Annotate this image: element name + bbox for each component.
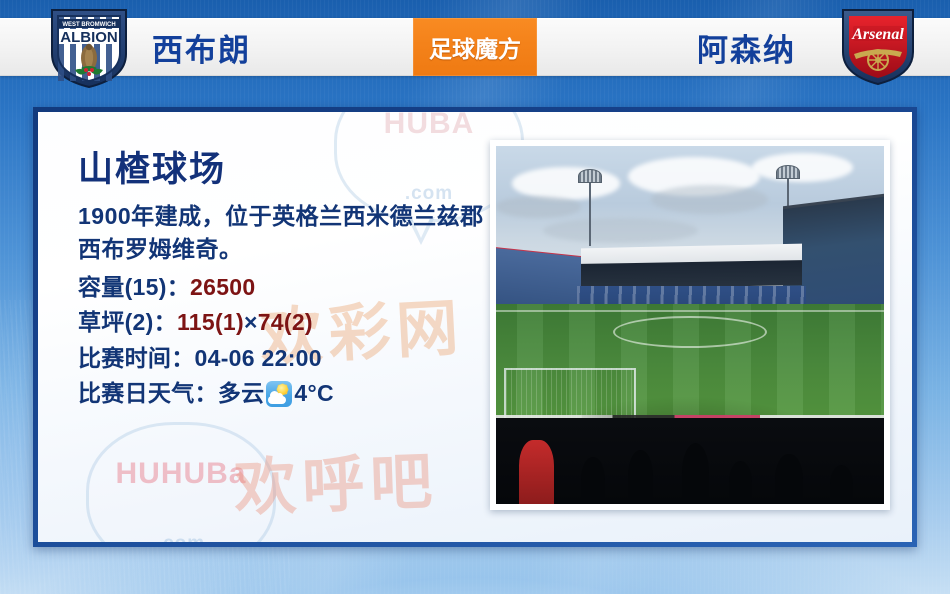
stat-kickoff-value: 04-06 22:00 xyxy=(195,341,322,377)
stat-pitch-width: 74(2) xyxy=(258,305,313,341)
stadium-info-panel: HUBA .com HUHUBa .com 欢彩网 欢呼吧 山楂球场 1900年… xyxy=(33,107,917,547)
stat-capacity: 容量(15) ： 26500 xyxy=(78,270,498,306)
stat-kickoff: 比赛时间 ： 04-06 22:00 xyxy=(78,341,498,377)
stadium-photo: WBAFC xyxy=(496,146,884,504)
watermark-bubble-bottom: HUHUBa .com xyxy=(86,422,276,542)
site-logo[interactable]: 足球魔方 xyxy=(413,18,537,76)
stat-capacity-value: 26500 xyxy=(190,270,255,306)
stat-weather: 比赛日天气 ： 多云 4°C xyxy=(78,376,498,412)
stat-pitch-sep: ： xyxy=(154,305,177,341)
watermark-bubble-bottom-text: HUHUBa xyxy=(89,457,273,491)
stat-pitch-length: 115(1) xyxy=(177,305,244,341)
site-logo-text: 足球魔方 xyxy=(429,30,521,64)
watermark-bubble-top-text: HUBA xyxy=(337,112,521,141)
partly-cloudy-icon xyxy=(266,381,292,407)
svg-text:Arsenal: Arsenal xyxy=(851,26,904,43)
stat-pitch-times: × xyxy=(244,305,258,341)
watermark-bubble-bottom-dotcom: .com xyxy=(89,533,273,542)
stadium-photo-frame: WBAFC xyxy=(490,140,890,510)
stadium-info-column: 山楂球场 1900年建成，位于英格兰西米德兰兹郡西布罗姆维奇。 容量(15) ：… xyxy=(78,150,498,412)
stat-capacity-sep: ： xyxy=(167,270,190,306)
stat-pitch: 草坪(2) ： 115(1) × 74(2) xyxy=(78,305,498,341)
stadium-title: 山楂球场 xyxy=(78,150,498,190)
stat-pitch-label: 草坪(2) xyxy=(78,305,154,341)
stat-weather-temperature: 4°C xyxy=(294,376,334,412)
stadium-description: 1900年建成，位于英格兰西米德兰兹郡西布罗姆维奇。 xyxy=(78,200,490,265)
stat-weather-sep: ： xyxy=(195,376,218,412)
stat-capacity-label: 容量(15) xyxy=(78,270,167,306)
stat-kickoff-label: 比赛时间 xyxy=(78,341,171,377)
home-team-crest: WEST BROMWICH ALBION xyxy=(48,6,130,90)
away-team-crest: Arsenal xyxy=(840,6,916,86)
stat-weather-label: 比赛日天气 xyxy=(78,376,195,412)
watermark-cheer-bottom: 欢呼吧 xyxy=(232,430,439,527)
svg-text:ALBION: ALBION xyxy=(60,29,118,46)
floodlight-pylon-left xyxy=(589,182,591,246)
home-team-name: 西布朗 xyxy=(152,18,251,76)
stat-kickoff-sep: ： xyxy=(171,341,194,377)
svg-text:WEST BROMWICH: WEST BROMWICH xyxy=(62,22,115,28)
stat-weather-value: 多云 xyxy=(218,376,265,412)
away-team-name: 阿森纳 xyxy=(697,18,796,76)
app-root: WEST BROMWICH ALBION 西布朗 足球魔方 阿森纳 xyxy=(0,0,950,594)
